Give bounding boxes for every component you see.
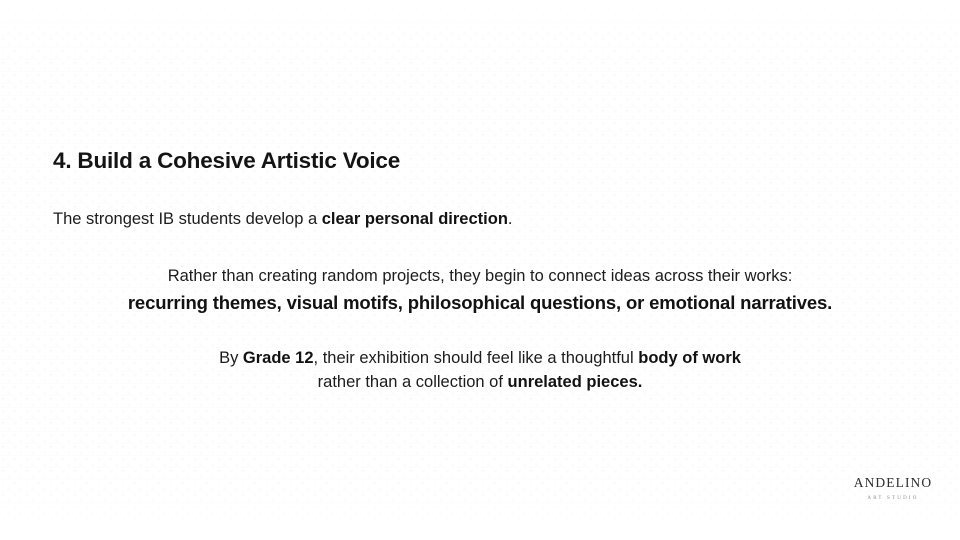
body-line2-bold-pieces: unrelated pieces. — [508, 373, 643, 391]
body-line1-text-1: By — [219, 349, 243, 367]
slide-content: 4. Build a Cohesive Artistic Voice The s… — [0, 0, 960, 540]
intro-text-after: . — [508, 210, 513, 228]
intro-text-bold: clear personal direction — [322, 210, 508, 228]
brand-tagline: ART STUDIO — [845, 494, 941, 504]
body-line2-text-1: rather than a collection of — [318, 373, 508, 391]
connect-ideas-line-1: Rather than creating random projects, th… — [0, 263, 960, 289]
body-line1-bold-grade: Grade 12 — [243, 349, 314, 367]
body-of-work-block: By Grade 12, their exhibition should fee… — [0, 346, 960, 394]
connect-ideas-block: Rather than creating random projects, th… — [0, 263, 960, 317]
body-of-work-line-1: By Grade 12, their exhibition should fee… — [0, 346, 960, 370]
body-line1-text-2: , their exhibition should feel like a th… — [314, 349, 639, 367]
intro-text-before: The strongest IB students develop a — [53, 210, 322, 228]
connect-ideas-line-2: recurring themes, visual motifs, philoso… — [0, 289, 960, 317]
intro-paragraph: The strongest IB students develop a clea… — [53, 210, 513, 229]
page-title: 4. Build a Cohesive Artistic Voice — [53, 148, 400, 174]
brand-wordmark: ANDELINO — [845, 475, 941, 491]
body-of-work-line-2: rather than a collection of unrelated pi… — [0, 370, 960, 394]
brand-logo: ANDELINO ART STUDIO — [845, 475, 941, 504]
body-line1-bold-work: body of work — [638, 349, 741, 367]
slide-canvas: 4. Build a Cohesive Artistic Voice The s… — [0, 0, 960, 540]
